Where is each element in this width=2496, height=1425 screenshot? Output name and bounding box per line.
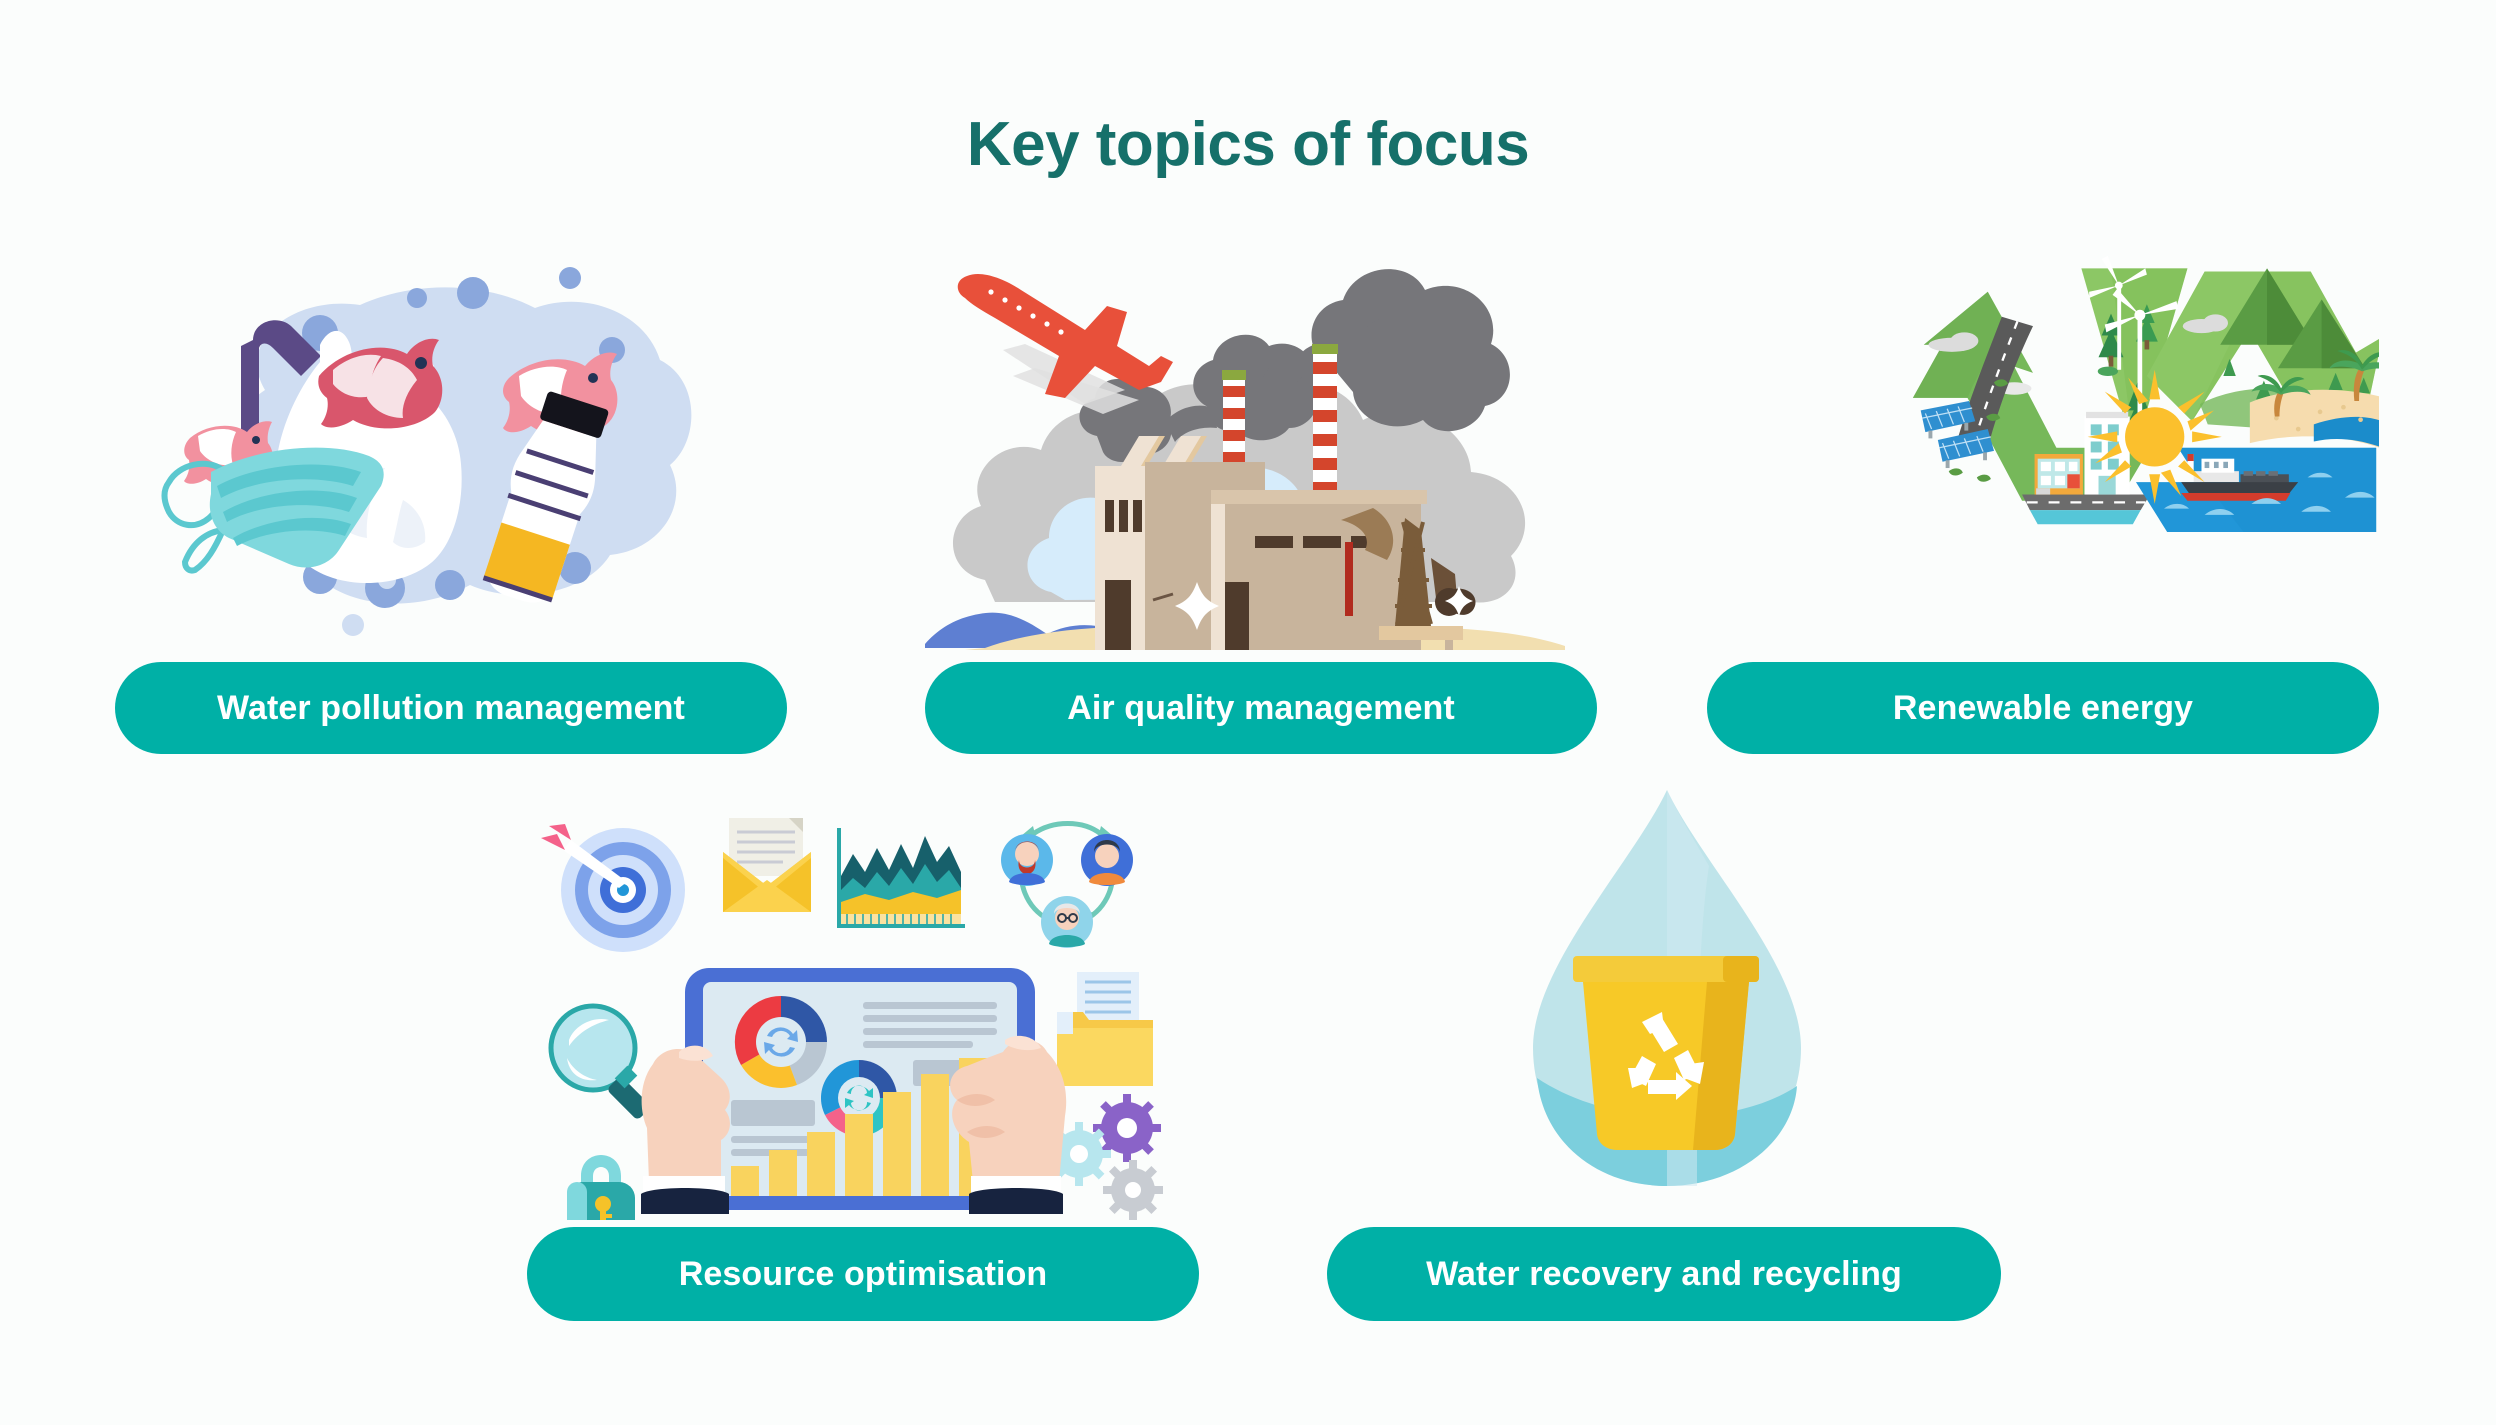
topic-label-resource-optimisation[interactable]: Resource optimisation (527, 1227, 1199, 1321)
magnifier-icon (551, 1006, 652, 1121)
folder-icon (1057, 972, 1153, 1086)
topic-label-air-quality-management[interactable]: Air quality management (925, 662, 1597, 754)
solar-panel-icon (1938, 429, 1994, 468)
envelope-icon (723, 818, 811, 912)
people-network-icon (1001, 824, 1133, 949)
topic-card-renewable-energy[interactable]: Renewable energy (1707, 250, 2379, 758)
water-pollution-illustration (115, 250, 787, 650)
topic-label-water-recovery-and-recycling[interactable]: Water recovery and recycling (1327, 1227, 2001, 1321)
water-recycling-illustration (1327, 790, 2001, 1220)
slide-canvas: Key topics of focus (0, 0, 2496, 1425)
topic-card-resource-optimisation[interactable]: Resource optimisation (527, 790, 1199, 1333)
recycling-bin-icon (1573, 956, 1759, 1150)
topic-card-air-quality-management[interactable]: Air quality management (925, 250, 1597, 758)
topic-card-water-pollution-management[interactable]: Water pollution management (115, 250, 787, 758)
donut-chart-icon (735, 996, 827, 1088)
padlock-icon (567, 1155, 635, 1220)
resource-optimisation-illustration (527, 790, 1199, 1220)
topic-card-water-recovery-and-recycling[interactable]: Water recovery and recycling (1327, 790, 2001, 1333)
area-chart-icon (837, 828, 965, 928)
topic-label-renewable-energy[interactable]: Renewable energy (1707, 662, 2379, 754)
target-dartboard-icon (541, 824, 685, 952)
renewable-energy-illustration (1707, 250, 2379, 650)
page-title: Key topics of focus (0, 112, 2496, 177)
air-quality-illustration (925, 250, 1597, 650)
topic-label-water-pollution-management[interactable]: Water pollution management (115, 662, 787, 754)
